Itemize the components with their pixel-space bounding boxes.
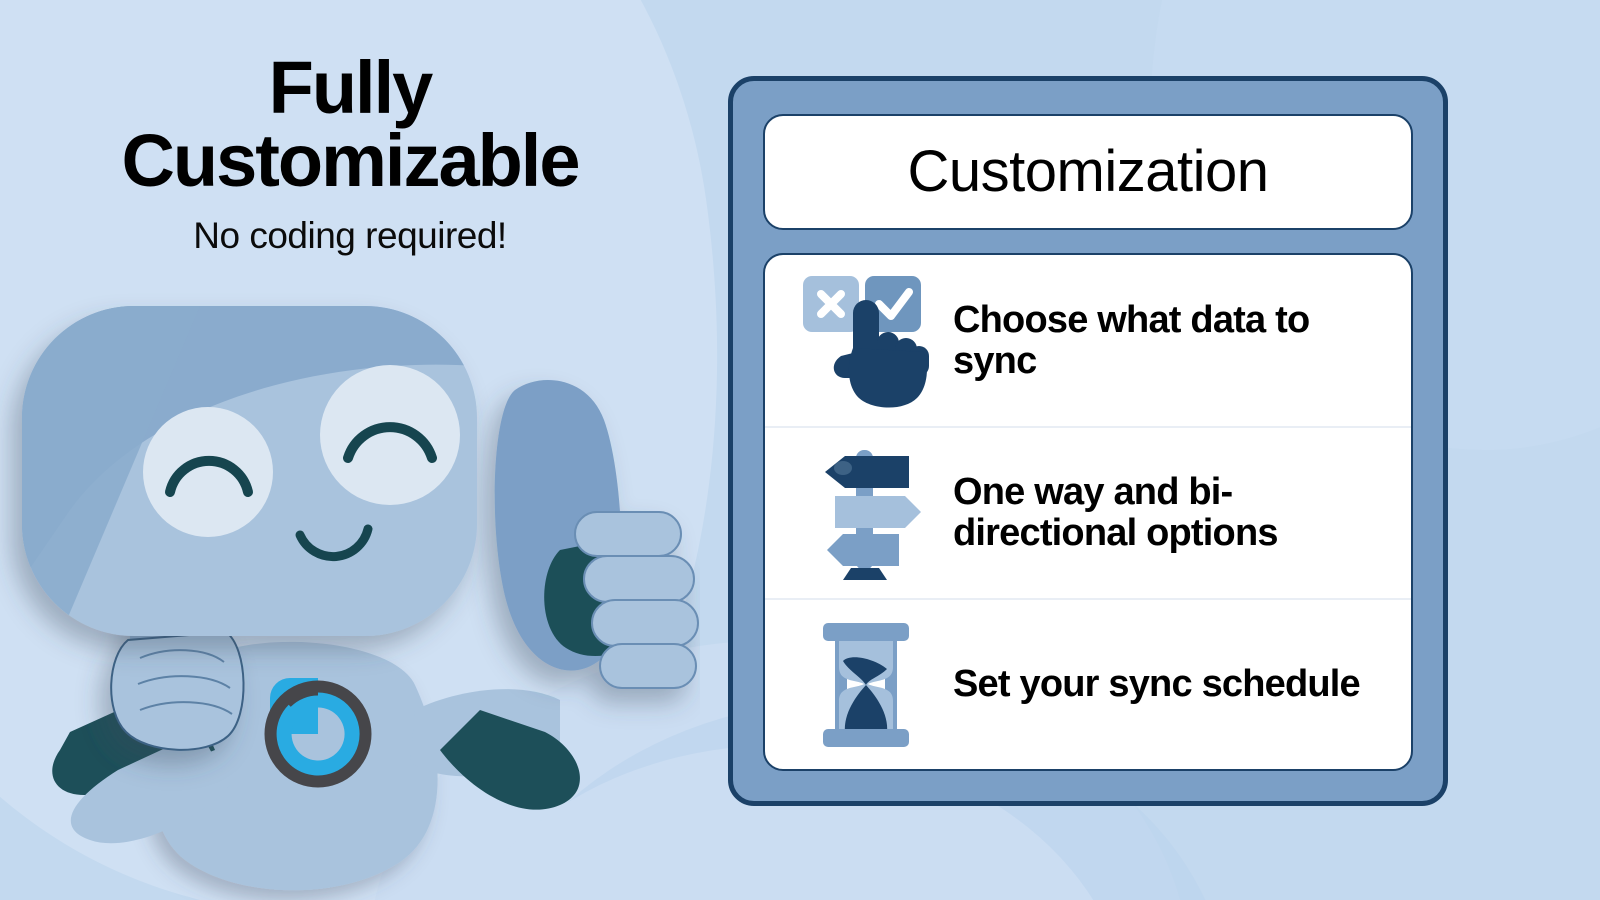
headline-line-2: Customizable	[121, 119, 578, 202]
list-item-label: Set your sync schedule	[953, 664, 1360, 705]
page-title: Customization	[908, 143, 1269, 201]
list-item[interactable]: One way and bi-directional options	[765, 426, 1411, 597]
checkbox-choice-hand-icon	[795, 266, 935, 416]
robot-right-hand	[495, 380, 698, 688]
customization-panel: Customization	[728, 76, 1448, 806]
robot-left-eye	[143, 407, 273, 537]
panel-title-card: Customization	[763, 114, 1413, 230]
headline-block: Fully Customizable No coding required!	[40, 52, 660, 257]
sync-logo-badge	[270, 678, 364, 780]
list-item-label: Choose what data to sync	[953, 300, 1385, 382]
headline: Fully Customizable	[40, 52, 660, 197]
hourglass-bottom-cap	[823, 729, 909, 747]
robot-mascot	[0, 280, 700, 900]
list-item[interactable]: Set your sync schedule	[765, 598, 1411, 769]
sign-bottom-left	[827, 534, 899, 566]
signpost-base	[843, 568, 887, 580]
hourglass-icon	[795, 609, 935, 759]
sign-middle-right	[835, 496, 921, 528]
slide-canvas: Fully Customizable No coding required!	[0, 0, 1600, 900]
robot-head	[22, 306, 477, 636]
list-item[interactable]: Choose what data to sync	[765, 255, 1411, 426]
signpost-directions-icon	[795, 438, 935, 588]
headline-line-1: Fully	[269, 46, 432, 129]
subheadline: No coding required!	[40, 215, 660, 257]
feature-list: Choose what data to sync One way and bi-…	[763, 253, 1413, 771]
robot-right-eye	[320, 365, 460, 505]
hourglass-top-cap	[823, 623, 909, 641]
list-item-label: One way and bi-directional options	[953, 472, 1385, 554]
